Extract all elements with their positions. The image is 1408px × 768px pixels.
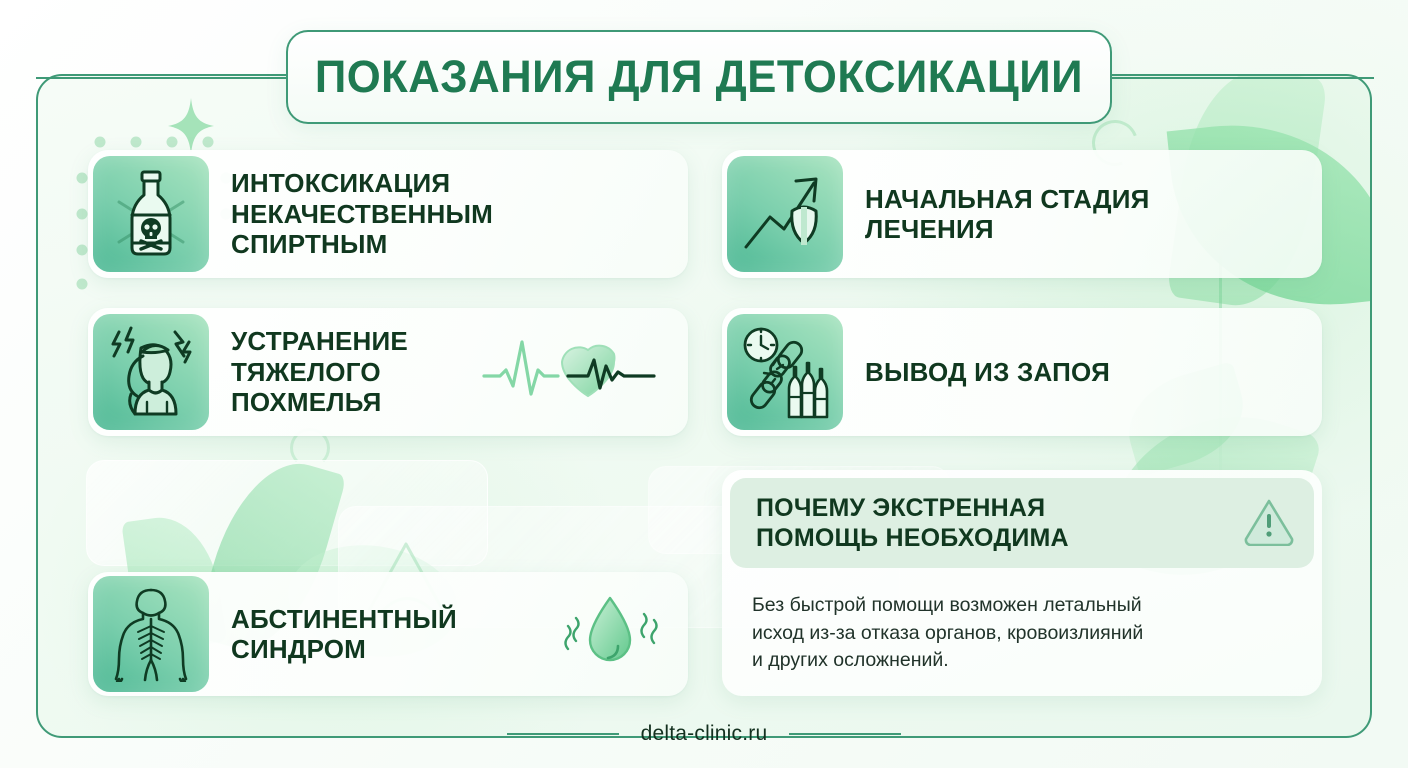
glass-panel-1 (86, 460, 488, 566)
growth-arrow-shield-icon (740, 169, 830, 259)
card-early-stage[interactable]: НАЧАЛЬНАЯ СТАДИЯ ЛЕЧЕНИЯ (722, 150, 1322, 278)
note-header: ПОЧЕМУ ЭКСТРЕННАЯ ПОМОЩЬ НЕОБХОДИМА (730, 478, 1314, 568)
poison-bottle-icon (109, 168, 193, 260)
title-area: ПОКАЗАНИЯ ДЛЯ ДЕТОКСИКАЦИИ (0, 0, 1408, 140)
icon-tile (93, 314, 209, 430)
icon-tile (93, 576, 209, 692)
card-label: УСТРАНЕНИЕ ТЯЖЕЛОГО ПОХМЕЛЬЯ (231, 326, 408, 417)
card-withdrawal[interactable]: АБСТИНЕНТНЫЙ СИНДРОМ (88, 572, 688, 696)
footer: delta-clinic.ru (36, 714, 1372, 754)
title-pill: ПОКАЗАНИЯ ДЛЯ ДЕТОКСИКАЦИИ (286, 30, 1112, 124)
card-intoxication[interactable]: ИНТОКСИКАЦИЯ НЕКАЧЕСТВЕННЫМ СПИРТНЫМ (88, 150, 688, 278)
icon-tile (727, 314, 843, 430)
title-connector-left (36, 77, 298, 79)
emergency-note-card: ПОЧЕМУ ЭКСТРЕННАЯ ПОМОЩЬ НЕОБХОДИМА Без … (722, 470, 1322, 696)
note-body-text: Без быстрой помощи возможен летальный ис… (722, 568, 1322, 675)
title-connector-right (1108, 77, 1374, 79)
footer-site[interactable]: delta-clinic.ru (641, 722, 768, 746)
card-label: ВЫВОД ИЗ ЗАПОЯ (865, 357, 1110, 387)
ecg-heart-icon (482, 332, 662, 412)
page-title: ПОКАЗАНИЯ ДЛЯ ДЕТОКСИКАЦИИ (315, 51, 1083, 103)
icon-tile (93, 156, 209, 272)
note-title: ПОЧЕМУ ЭКСТРЕННАЯ ПОМОЩЬ НЕОБХОДИМА (756, 493, 1069, 553)
nervous-system-icon (108, 586, 194, 682)
warning-triangle-icon (1242, 496, 1296, 546)
card-extra-decor (482, 332, 662, 412)
sweat-droplet-icon (558, 590, 662, 678)
card-binge-exit[interactable]: ВЫВОД ИЗ ЗАПОЯ (722, 308, 1322, 436)
card-hangover[interactable]: УСТРАНЕНИЕ ТЯЖЕЛОГО ПОХМЕЛЬЯ (88, 308, 688, 436)
card-label: АБСТИНЕНТНЫЙ СИНДРОМ (231, 604, 457, 665)
card-extra-decor (558, 590, 662, 678)
card-label: НАЧАЛЬНАЯ СТАДИЯ ЛЕЧЕНИЯ (865, 184, 1150, 245)
headache-person-icon (105, 326, 197, 418)
footer-rule-left (507, 733, 619, 735)
icon-tile (727, 156, 843, 272)
card-label: ИНТОКСИКАЦИЯ НЕКАЧЕСТВЕННЫМ СПИРТНЫМ (231, 168, 493, 259)
note-warning-wrap (1242, 496, 1296, 551)
clock-broken-chain-bottles-icon (737, 325, 833, 419)
footer-rule-right (789, 733, 901, 735)
infographic-stage: ПОКАЗАНИЯ ДЛЯ ДЕТОКСИКАЦИИ (0, 0, 1408, 768)
